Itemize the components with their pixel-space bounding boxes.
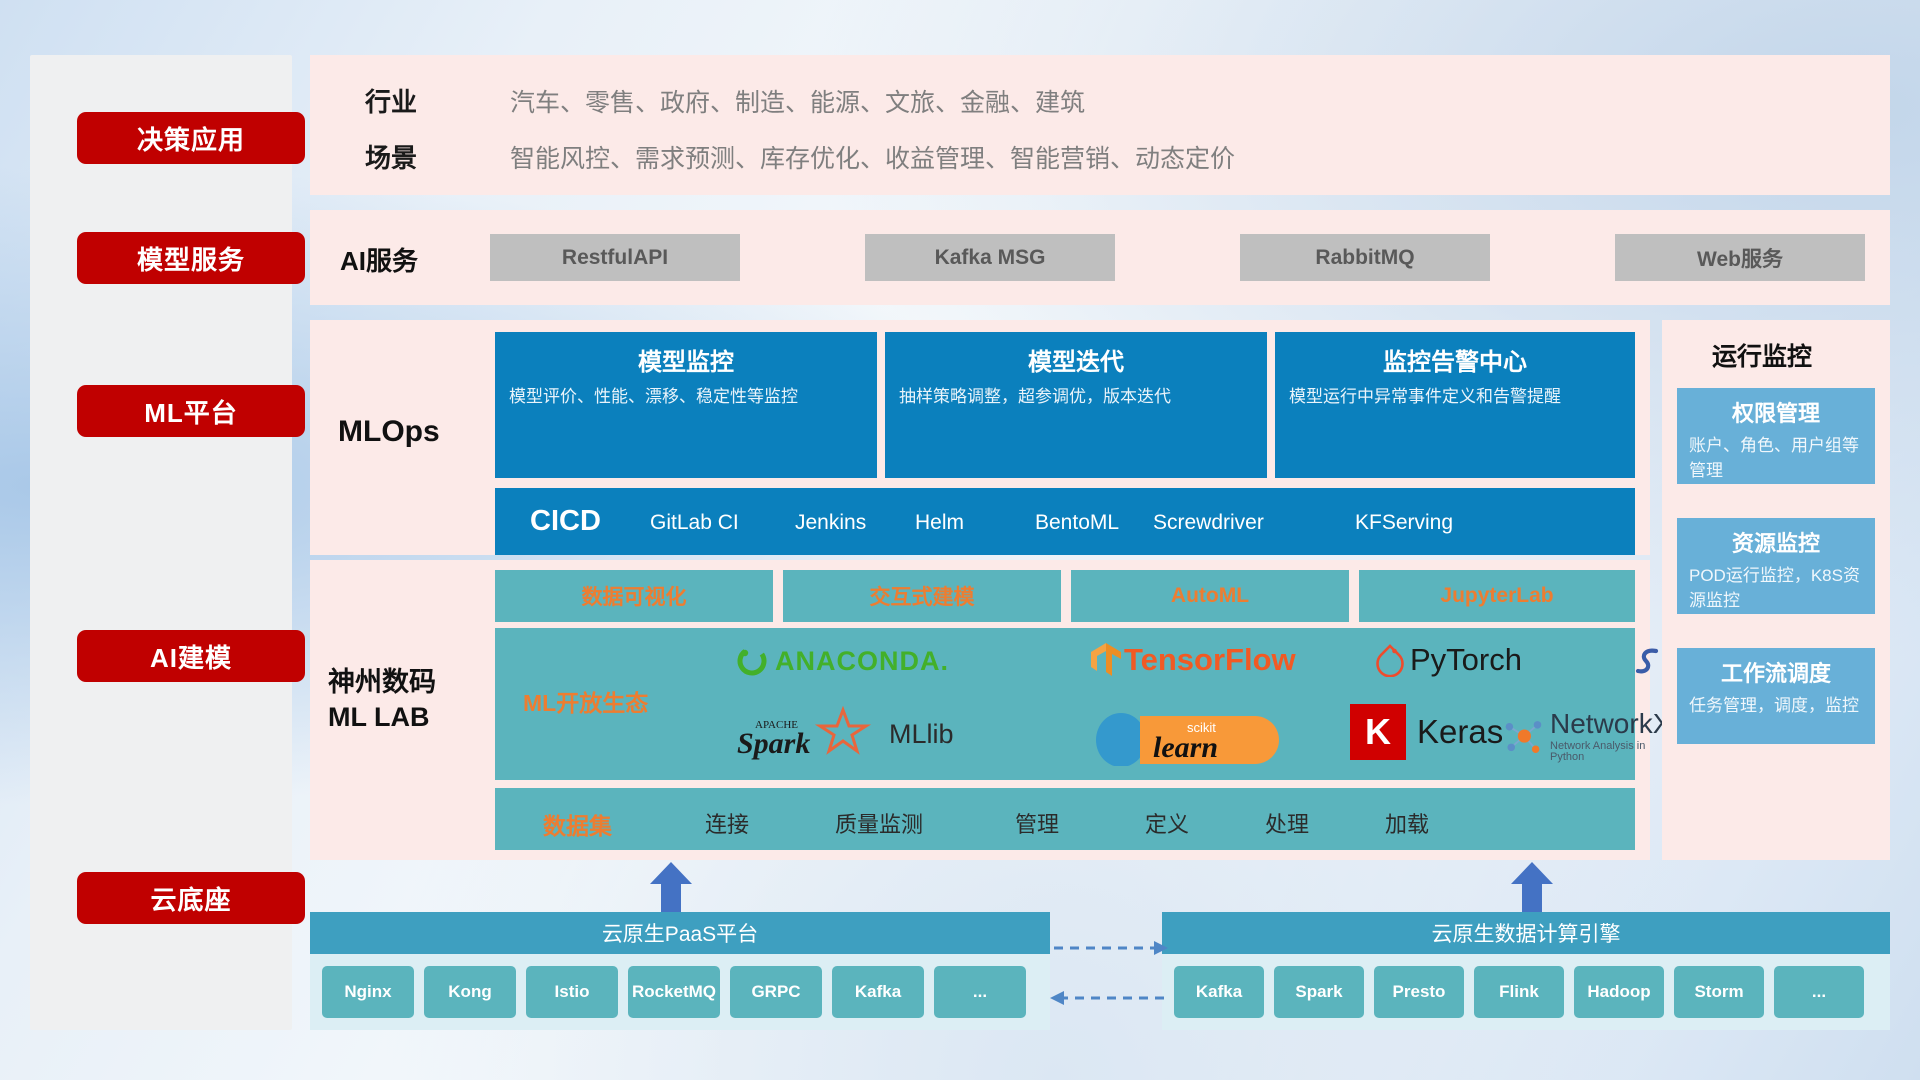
arrow-up-data-engine-icon (1509, 862, 1555, 914)
card-title: 资源监控 (1689, 526, 1863, 558)
mlops-card-model-monitor[interactable]: 模型监控 模型评价、性能、漂移、稳定性等监控 (495, 332, 877, 478)
card-desc: 任务管理，调度，监控 (1689, 694, 1863, 719)
rail-item-decision-app[interactable]: 决策应用 (77, 112, 305, 164)
scikit-learn-logo: scikit learn (1095, 710, 1285, 766)
bidirectional-connector-icon (1050, 930, 1168, 1020)
cicd-item-jenkins[interactable]: Jenkins (795, 510, 915, 536)
monitor-card-workflow[interactable]: 工作流调度 任务管理，调度，监控 (1677, 648, 1875, 744)
ai-service-title: AI服务 (340, 241, 418, 278)
card-desc: POD运行监控，K8S资源监控 (1689, 564, 1863, 613)
dataset-item-process[interactable]: 处理 (1265, 807, 1309, 839)
spark-icon: APACHE Spark (735, 706, 885, 762)
anaconda-icon (735, 644, 769, 678)
engine-chip-storm[interactable]: Storm (1674, 966, 1764, 1018)
service-chip-restfulapi[interactable]: RestfulAPI (490, 234, 740, 281)
tensorflow-wordmark: TensorFlow (1124, 642, 1296, 678)
anaconda-logo: ANACONDA. (735, 644, 949, 678)
dataset-label: 数据集 (543, 807, 612, 841)
run-monitor-panel: 运行监控 权限管理 账户、角色、用户组等管理 资源监控 POD运行监控，K8S资… (1662, 320, 1890, 860)
service-chip-kafka-msg[interactable]: Kafka MSG (865, 234, 1115, 281)
pytorch-wordmark: PyTorch (1410, 642, 1522, 678)
card-title: 监控告警中心 (1289, 342, 1621, 377)
ml-ecosystem-area: ML开放生态 ANACONDA. TensorFlow (495, 628, 1635, 780)
paas-chip-kong[interactable]: Kong (424, 966, 516, 1018)
card-desc: 模型评价、性能、漂移、稳定性等监控 (509, 385, 863, 409)
paas-header-label: 云原生PaaS平台 (602, 918, 758, 948)
keras-logo: K Keras (1350, 704, 1503, 760)
ai-modeling-panel: 神州数码 ML LAB 数据可视化 交互式建模 AutoML JupyterLa… (310, 560, 1650, 860)
cicd-item-gitlab-ci[interactable]: GitLab CI (650, 510, 770, 536)
service-chip-rabbitmq[interactable]: RabbitMQ (1240, 234, 1490, 281)
networkx-wordmark: NetworkX (1550, 710, 1674, 738)
arrow-up-paas-icon (648, 862, 694, 914)
networkx-icon (1500, 714, 1545, 760)
paas-header: 云原生PaaS平台 (310, 912, 1050, 954)
engine-chip-presto[interactable]: Presto (1374, 966, 1464, 1018)
rail-label: 云底座 (150, 880, 231, 917)
cicd-bar: CICD GitLab CI Jenkins Helm BentoML Scre… (495, 488, 1635, 555)
keras-wordmark: Keras (1417, 713, 1503, 751)
industry-label: 行业 (365, 82, 417, 119)
engine-chip-more[interactable]: ... (1774, 966, 1864, 1018)
service-chip-web-service[interactable]: Web服务 (1615, 234, 1865, 281)
engine-chip-hadoop[interactable]: Hadoop (1574, 966, 1664, 1018)
engine-chip-kafka[interactable]: Kafka (1174, 966, 1264, 1018)
svg-text:Spark: Spark (737, 727, 810, 760)
paas-chip-istio[interactable]: Istio (526, 966, 618, 1018)
keras-icon: K (1350, 704, 1406, 760)
paas-chip-kafka[interactable]: Kafka (832, 966, 924, 1018)
mlops-panel: MLOps 模型监控 模型评价、性能、漂移、稳定性等监控 模型迭代 抽样策略调整… (310, 320, 1650, 555)
dataset-row: 数据集 连接 质量监测 管理 定义 处理 加载 (495, 788, 1635, 850)
mlops-card-model-iteration[interactable]: 模型迭代 抽样策略调整，超参调优，版本迭代 (885, 332, 1267, 478)
tab-label: 交互式建模 (870, 581, 975, 611)
pytorch-icon (1375, 643, 1405, 677)
cicd-title: CICD (530, 505, 601, 538)
tab-label: JupyterLab (1440, 584, 1553, 608)
ml-lab-name: 神州数码 ML LAB (328, 665, 436, 735)
architecture-diagram: 决策应用 模型服务 ML平台 AI建模 云底座 行业 汽车、零售、政府、制造、能… (0, 0, 1920, 1080)
dataset-item-connect[interactable]: 连接 (705, 807, 749, 839)
sas-icon (1635, 646, 1663, 678)
scikit-learn-icon: scikit learn (1095, 710, 1285, 766)
card-title: 权限管理 (1689, 396, 1863, 428)
industry-scene-panel: 行业 汽车、零售、政府、制造、能源、文旅、金融、建筑 场景 智能风控、需求预测、… (310, 55, 1890, 195)
rail-label: 决策应用 (137, 120, 245, 157)
rail-item-ml-platform[interactable]: ML平台 (77, 385, 305, 437)
data-engine-group: 云原生数据计算引擎 Kafka Spark Presto Flink Hadoo… (1162, 912, 1890, 1030)
card-desc: 抽样策略调整，超参调优，版本迭代 (899, 385, 1253, 409)
rail-label: AI建模 (150, 638, 232, 675)
ecosystem-label: ML开放生态 (523, 684, 648, 718)
cicd-item-helm[interactable]: Helm (915, 510, 1035, 536)
mllib-wordmark: MLlib (889, 719, 954, 750)
scene-label: 场景 (365, 138, 417, 175)
tab-data-visualization[interactable]: 数据可视化 (495, 570, 773, 622)
tensorflow-icon (1090, 642, 1122, 678)
networkx-logo: NetworkX Network Analysis in Python (1500, 710, 1674, 763)
tensorflow-logo: TensorFlow (1090, 642, 1296, 678)
tab-label: 数据可视化 (582, 581, 687, 611)
chip-label: RestfulAPI (562, 246, 668, 270)
left-rail: 决策应用 模型服务 ML平台 AI建模 云底座 (30, 55, 292, 1030)
rail-item-ai-modeling[interactable]: AI建模 (77, 630, 305, 682)
dataset-item-quality[interactable]: 质量监测 (835, 807, 923, 839)
dataset-item-define[interactable]: 定义 (1145, 807, 1189, 839)
networkx-tagline: Network Analysis in Python (1550, 741, 1674, 763)
dataset-item-manage[interactable]: 管理 (1015, 807, 1059, 839)
mlops-title: MLOps (338, 415, 440, 449)
chip-label: Web服务 (1697, 243, 1783, 273)
scene-value: 智能风控、需求预测、库存优化、收益管理、智能营销、动态定价 (510, 139, 1235, 175)
card-title: 模型迭代 (899, 342, 1253, 377)
anaconda-wordmark: ANACONDA. (775, 646, 949, 677)
ai-service-panel: AI服务 RestfulAPI Kafka MSG RabbitMQ Web服务 (310, 210, 1890, 305)
lab-name-line1: 神州数码 (328, 665, 436, 700)
cicd-item-kfserving[interactable]: KFServing (1355, 510, 1475, 536)
chip-label: RabbitMQ (1315, 246, 1414, 270)
paas-chip-more[interactable]: ... (934, 966, 1026, 1018)
lab-name-line2: ML LAB (328, 700, 436, 735)
rail-label: ML平台 (144, 393, 238, 430)
card-desc: 模型运行中异常事件定义和告警提醒 (1289, 385, 1621, 409)
tab-label: AutoML (1171, 584, 1249, 608)
chip-label: Kafka MSG (935, 246, 1046, 270)
rail-label: 模型服务 (137, 240, 245, 277)
monitor-card-permission[interactable]: 权限管理 账户、角色、用户组等管理 (1677, 388, 1875, 484)
paas-chip-rocketmq[interactable]: RocketMQ (628, 966, 720, 1018)
paas-chip-nginx[interactable]: Nginx (322, 966, 414, 1018)
monitor-card-resource[interactable]: 资源监控 POD运行监控，K8S资源监控 (1677, 518, 1875, 614)
paas-chip-grpc[interactable]: GRPC (730, 966, 822, 1018)
data-engine-header-label: 云原生数据计算引擎 (1432, 918, 1621, 948)
engine-chip-flink[interactable]: Flink (1474, 966, 1564, 1018)
tab-jupyterlab[interactable]: JupyterLab (1359, 570, 1635, 622)
cicd-item-screwdriver[interactable]: Screwdriver (1153, 510, 1273, 536)
dataset-item-load[interactable]: 加载 (1385, 807, 1429, 839)
tab-interactive-modeling[interactable]: 交互式建模 (783, 570, 1061, 622)
cicd-item-bentoml[interactable]: BentoML (1035, 510, 1155, 536)
paas-group: 云原生PaaS平台 Nginx Kong Istio RocketMQ GRPC… (310, 912, 1050, 1030)
tab-automl[interactable]: AutoML (1071, 570, 1349, 622)
data-engine-header: 云原生数据计算引擎 (1162, 912, 1890, 954)
card-desc: 账户、角色、用户组等管理 (1689, 434, 1863, 483)
rail-item-model-service[interactable]: 模型服务 (77, 232, 305, 284)
industry-value: 汽车、零售、政府、制造、能源、文旅、金融、建筑 (510, 83, 1085, 119)
svg-text:learn: learn (1153, 731, 1218, 764)
card-title: 工作流调度 (1689, 656, 1863, 688)
pytorch-logo: PyTorch (1375, 642, 1522, 678)
run-monitor-title: 运行监控 (1712, 337, 1812, 373)
rail-item-cloud-base[interactable]: 云底座 (77, 872, 305, 924)
mlops-card-alert-center[interactable]: 监控告警中心 模型运行中异常事件定义和告警提醒 (1275, 332, 1635, 478)
engine-chip-spark[interactable]: Spark (1274, 966, 1364, 1018)
card-title: 模型监控 (509, 342, 863, 377)
spark-mllib-logo: APACHE Spark MLlib (735, 706, 954, 762)
